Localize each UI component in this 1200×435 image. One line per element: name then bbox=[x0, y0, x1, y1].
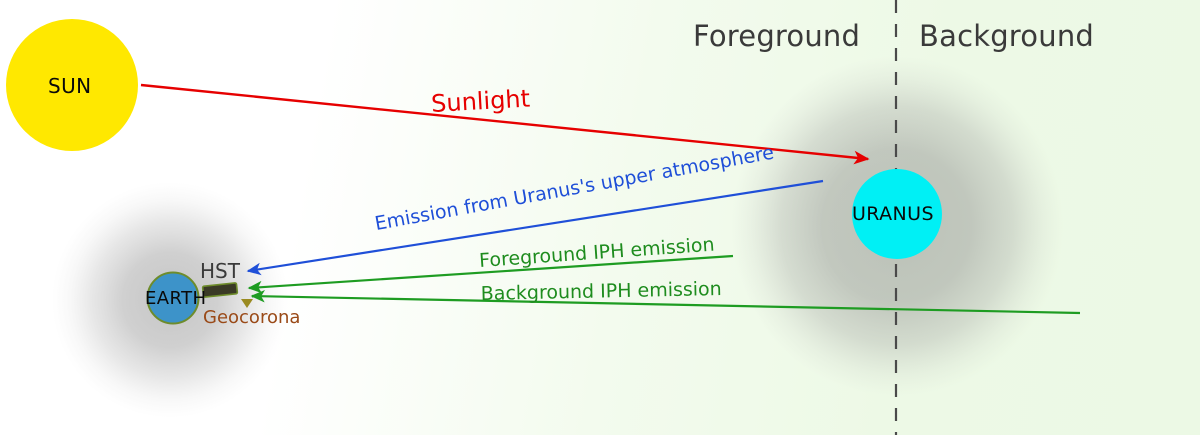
uranus-body[interactable] bbox=[852, 169, 942, 259]
background-iph-ray bbox=[252, 296, 1080, 313]
uranus-emission-ray bbox=[248, 181, 823, 271]
diagram-canvas: Foreground Background Sunlight Emission … bbox=[0, 0, 1200, 435]
earth-body[interactable] bbox=[148, 273, 199, 324]
hst-icon[interactable] bbox=[203, 283, 238, 297]
sunlight-ray bbox=[141, 85, 868, 159]
geocorona-marker-icon bbox=[241, 299, 253, 308]
sun-body[interactable] bbox=[6, 19, 138, 151]
foreground-iph-ray bbox=[249, 256, 733, 288]
scene-layer bbox=[0, 0, 1200, 435]
